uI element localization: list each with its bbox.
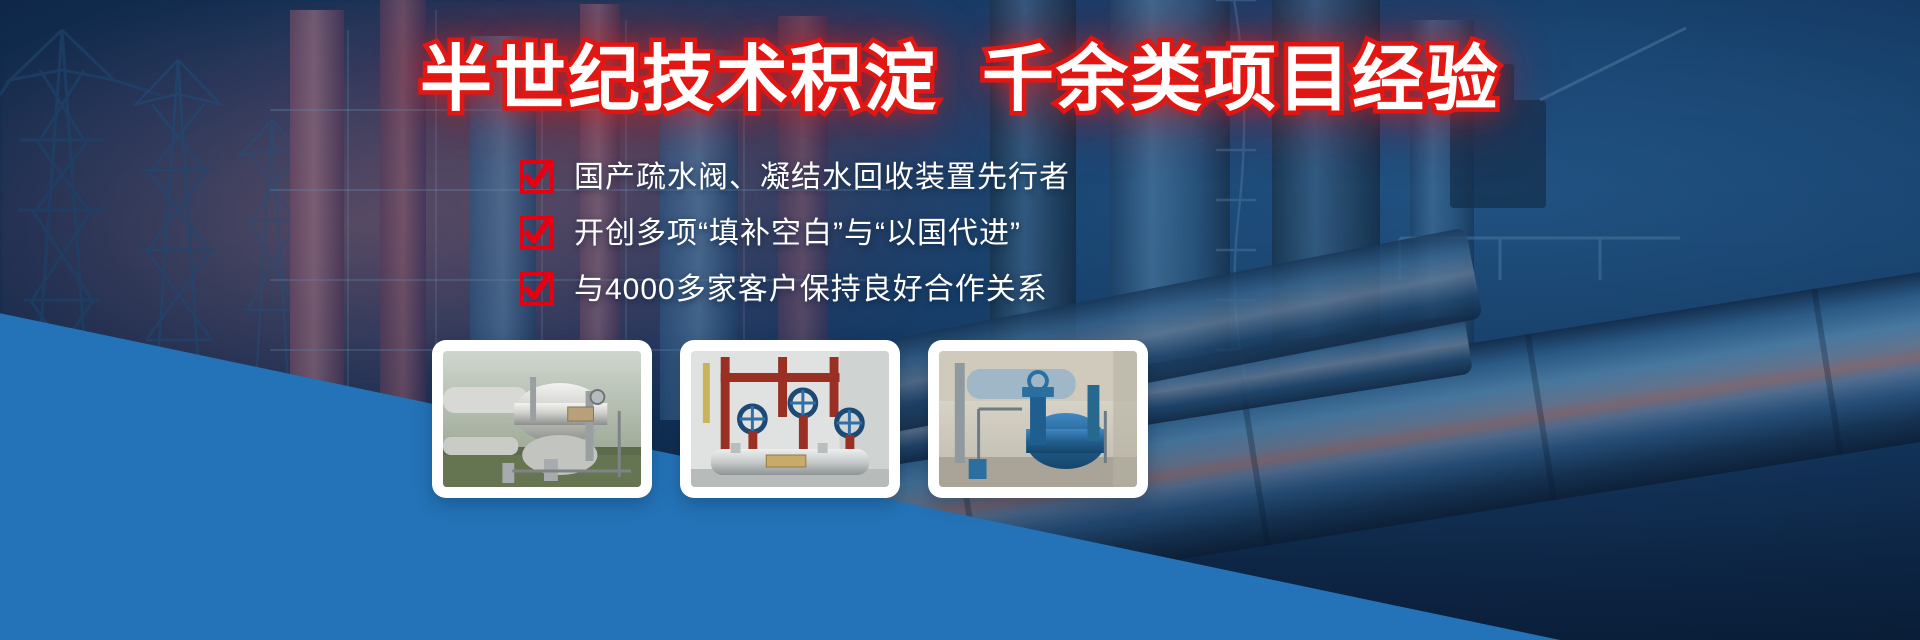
checkbox-checked-icon: [520, 272, 554, 306]
list-item: 开创多项“填补空白”与“以国代进”: [520, 216, 1070, 250]
list-item-label: 与4000多家客户保持良好合作关系: [574, 273, 1048, 306]
promo-banner: 半世纪技术积淀 千余类项目经验 国产疏水阀、凝结水回收装置先行者: [0, 0, 1920, 640]
product-photo-1: [443, 351, 641, 487]
product-photo-card-1[interactable]: [432, 340, 652, 498]
list-item: 国产疏水阀、凝结水回收装置先行者: [520, 160, 1070, 194]
product-photo-card-3[interactable]: [928, 340, 1148, 498]
product-photo-card-list: [432, 340, 1148, 498]
feature-list: 国产疏水阀、凝结水回收装置先行者 开创多项“填补空白”与“以国代进”: [520, 160, 1070, 306]
checkbox-checked-icon: [520, 216, 554, 250]
product-photo-2: [691, 351, 889, 487]
banner-content: 半世纪技术积淀 千余类项目经验 国产疏水阀、凝结水回收装置先行者: [0, 0, 1920, 640]
list-item: 与4000多家客户保持良好合作关系: [520, 272, 1070, 306]
product-photo-3: [939, 351, 1137, 487]
checkbox-checked-icon: [520, 160, 554, 194]
list-item-label: 开创多项“填补空白”与“以国代进”: [574, 217, 1021, 250]
page-title: 半世纪技术积淀 千余类项目经验: [0, 44, 1920, 116]
list-item-label: 国产疏水阀、凝结水回收装置先行者: [574, 161, 1070, 194]
product-photo-card-2[interactable]: [680, 340, 900, 498]
